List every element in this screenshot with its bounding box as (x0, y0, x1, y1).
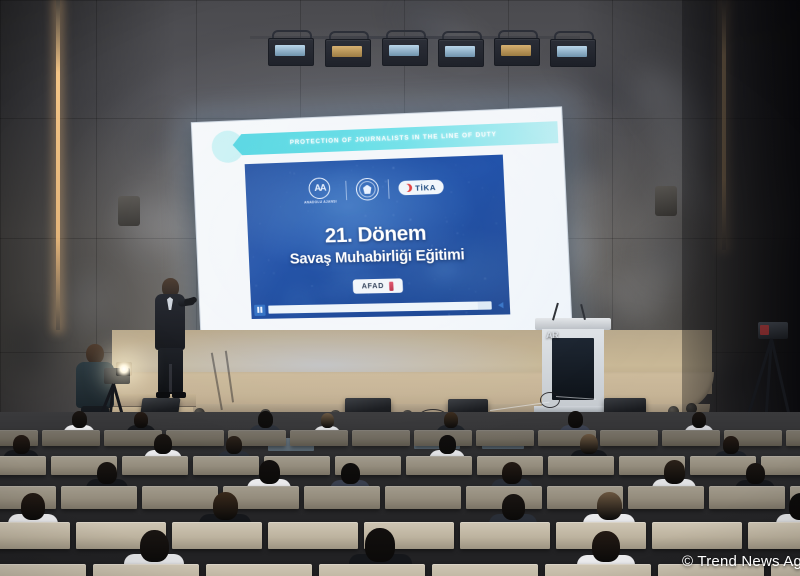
audience-member-head (692, 412, 706, 428)
auditorium-seat (268, 522, 358, 549)
auditorium-seat (628, 486, 704, 509)
auditorium-seat (0, 564, 86, 576)
video-speck (396, 275, 397, 276)
stage-light-fixture (268, 30, 312, 64)
wall-speaker-left (118, 196, 140, 226)
video-speck (454, 213, 456, 215)
wall-speaker-right (655, 186, 677, 216)
photograph: PROTECTION OF JOURNALISTS IN THE LINE OF… (0, 0, 800, 576)
auditorium-seat (600, 430, 658, 446)
logo-divider-2 (388, 179, 390, 198)
video-speck (392, 214, 394, 216)
ribbon-text: PROTECTION OF JOURNALISTS IN THE LINE OF… (290, 131, 497, 146)
auditorium-seat (206, 564, 312, 576)
audience-member-head (154, 434, 172, 454)
auditorium-seating (0, 412, 800, 576)
video-speck (293, 172, 295, 174)
auditorium-seat (352, 430, 410, 446)
auditorium-seat (460, 522, 550, 549)
presenter-on-stage (148, 278, 192, 400)
auditorium-seat (193, 456, 259, 475)
audience-member-head (140, 530, 169, 562)
auditorium-seat (385, 486, 461, 509)
afad-badge: AFAD (352, 278, 403, 293)
audience-member-head (341, 463, 360, 484)
video-speck (410, 219, 412, 221)
audience-member-head (259, 460, 280, 484)
video-speck (408, 282, 410, 284)
video-speck (484, 278, 486, 280)
video-speck (469, 288, 470, 289)
watermark: © Trend News Ag (682, 553, 800, 570)
video-speck (445, 217, 446, 218)
audience-member-head (746, 463, 765, 484)
anadolu-ajansi-logo: AA ANADOLU AJANSI (303, 177, 337, 204)
video-texture (245, 155, 503, 165)
audience-member-head (21, 493, 45, 520)
stage-light-fixture (325, 31, 369, 65)
stage-light-fixture (438, 31, 482, 65)
video-speck (475, 291, 476, 292)
presenter-shoe-right (172, 392, 186, 398)
headline-line-1: 21. Dönem (248, 221, 507, 249)
audience-member-head (789, 493, 800, 520)
video-speck (289, 172, 291, 174)
auditorium-seat (0, 522, 70, 549)
slide-headline: 21. Dönem Savaş Muhabirliği Eğitimi (248, 221, 508, 268)
screen-frame: PROTECTION OF JOURNALISTS IN THE LINE OF… (191, 106, 574, 354)
podium-display-panel (552, 338, 594, 400)
headline-line-2: Savaş Muhabirliği Eğitimi (249, 247, 508, 268)
audience-member-head (664, 460, 685, 484)
aa-mark: AA (309, 177, 331, 199)
star-icon (409, 186, 411, 188)
auditorium-seat (548, 456, 614, 475)
stage-light-fixture (550, 31, 594, 65)
audience-member-head (444, 412, 458, 428)
audience-member-head (568, 411, 583, 428)
stage-light-fixture (494, 30, 538, 64)
video-speck (255, 285, 257, 287)
auditorium-seat (0, 456, 46, 475)
auditorium-seat (748, 522, 800, 549)
crescent-icon (403, 184, 412, 192)
presenter-leg-gap (169, 364, 172, 392)
broadcast-camera (758, 322, 788, 339)
video-speck (461, 206, 462, 207)
presenter-shoe-left (156, 392, 170, 398)
audience-member-head (13, 435, 30, 454)
auditorium-seat (142, 486, 218, 509)
speaker-icon[interactable] (495, 299, 507, 311)
auditorium-seat (406, 456, 472, 475)
audience-member-head (213, 492, 238, 520)
afad-mark-icon (389, 281, 394, 290)
cameraman-head (86, 344, 104, 364)
auditorium-seat (290, 430, 348, 446)
auditorium-seat (166, 430, 224, 446)
video-speck (312, 210, 314, 212)
auditorium-seat (652, 522, 742, 549)
audience-member-head (597, 492, 622, 520)
video-speck (273, 273, 275, 275)
audience-member-head (723, 436, 739, 454)
audience-member-head (439, 435, 456, 454)
slide-content: PROTECTION OF JOURNALISTS IN THE LINE OF… (192, 107, 573, 353)
auditorium-seat (93, 564, 199, 576)
auditorium-seat (122, 456, 188, 475)
podium-sign-label: AR (546, 330, 564, 344)
pause-icon[interactable] (254, 304, 266, 315)
audience-member-head (592, 531, 620, 562)
auditorium-seat (172, 522, 262, 549)
tika-logo: TİKA (398, 179, 444, 195)
projection-screen: PROTECTION OF JOURNALISTS IN THE LINE OF… (191, 106, 574, 354)
video-speck (263, 273, 264, 274)
auditorium-seat (545, 564, 651, 576)
auditorium-seat (319, 564, 425, 576)
emblem-core (363, 185, 372, 194)
afad-label: AFAD (362, 282, 385, 290)
audience-member-head (502, 462, 522, 484)
audience-member-head (134, 412, 148, 428)
video-speck (280, 206, 281, 207)
auditorium-seat (432, 564, 538, 576)
camera-hood (760, 325, 769, 335)
auditorium-seat (476, 430, 534, 446)
video-speck (350, 170, 352, 172)
video-speck (449, 289, 450, 290)
led-strip-left (56, 0, 60, 330)
stage-light-fixture (382, 30, 426, 64)
audience-member-head (97, 462, 117, 484)
auditorium-seat (61, 486, 137, 509)
auditorium-seat (304, 486, 380, 509)
video-speck (356, 165, 358, 167)
auditorium-seat (662, 430, 720, 446)
audience-member-head (72, 411, 87, 428)
camera-light (116, 362, 132, 376)
video-speck (295, 269, 296, 270)
audience-member-head (321, 413, 334, 428)
audience-member-head (580, 434, 598, 454)
logo-row: AA ANADOLU AJANSI TİKA (245, 171, 504, 206)
circular-emblem-logo (355, 178, 379, 201)
audience-member-head (258, 411, 273, 428)
video-speck (311, 285, 313, 287)
coiled-cable (540, 392, 560, 408)
slide-video-area: AA ANADOLU AJANSI TİKA (245, 155, 511, 319)
tika-caption: TİKA (415, 182, 436, 192)
video-speck (372, 166, 373, 167)
video-speck (393, 167, 395, 169)
progress-fill (268, 302, 478, 314)
logo-divider-1 (345, 180, 347, 199)
auditorium-seat (761, 456, 800, 475)
auditorium-seat (709, 486, 785, 509)
video-speck (259, 223, 260, 224)
audience-member-head (365, 528, 395, 562)
auditorium-seat (42, 430, 100, 446)
auditorium-seat (786, 430, 800, 446)
video-speck (448, 314, 449, 315)
audience-member-head (226, 436, 242, 454)
slide-ribbon-banner: PROTECTION OF JOURNALISTS IN THE LINE OF… (232, 121, 558, 155)
audience-member-head (502, 494, 525, 520)
progress-bar[interactable] (268, 301, 492, 313)
